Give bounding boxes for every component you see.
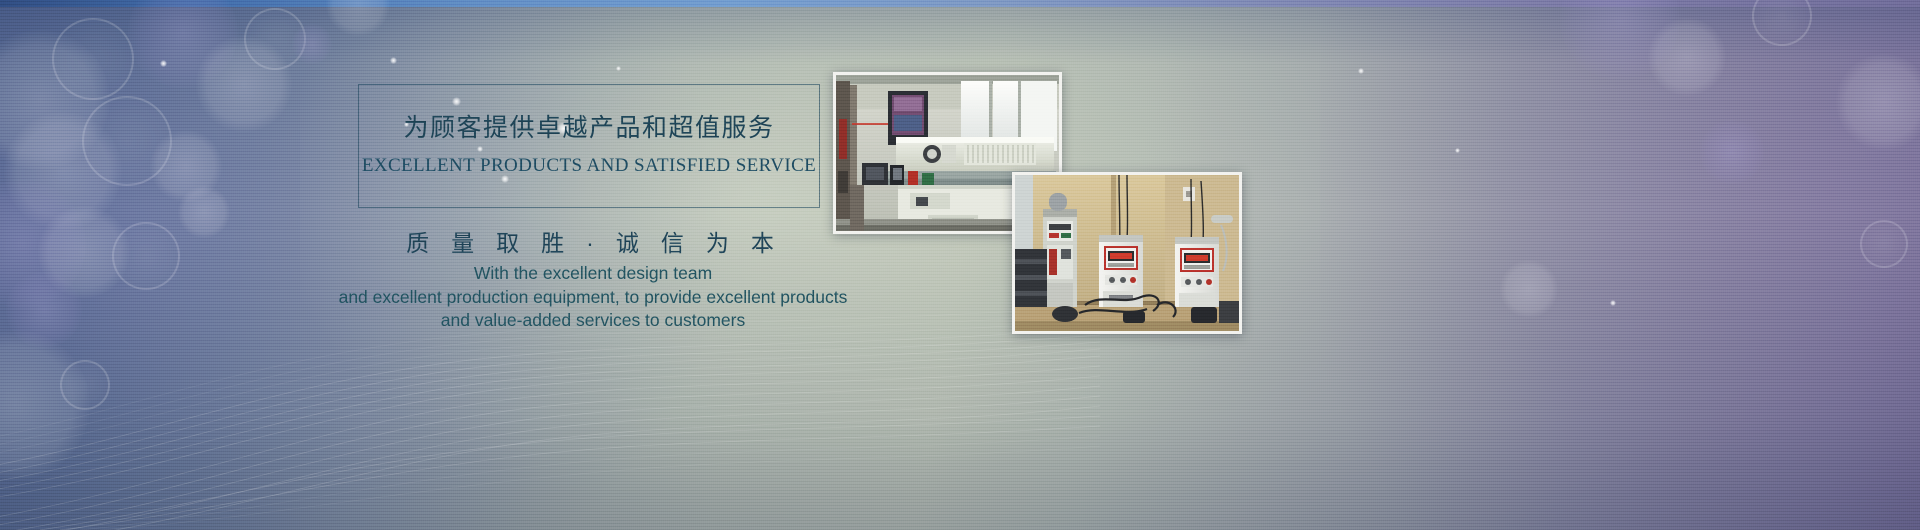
promo-banner: 为顾客提供卓越产品和超值服务 EXCELLENT PRODUCTS AND SA… (0, 0, 1920, 530)
film-grain-overlay (0, 0, 1920, 530)
